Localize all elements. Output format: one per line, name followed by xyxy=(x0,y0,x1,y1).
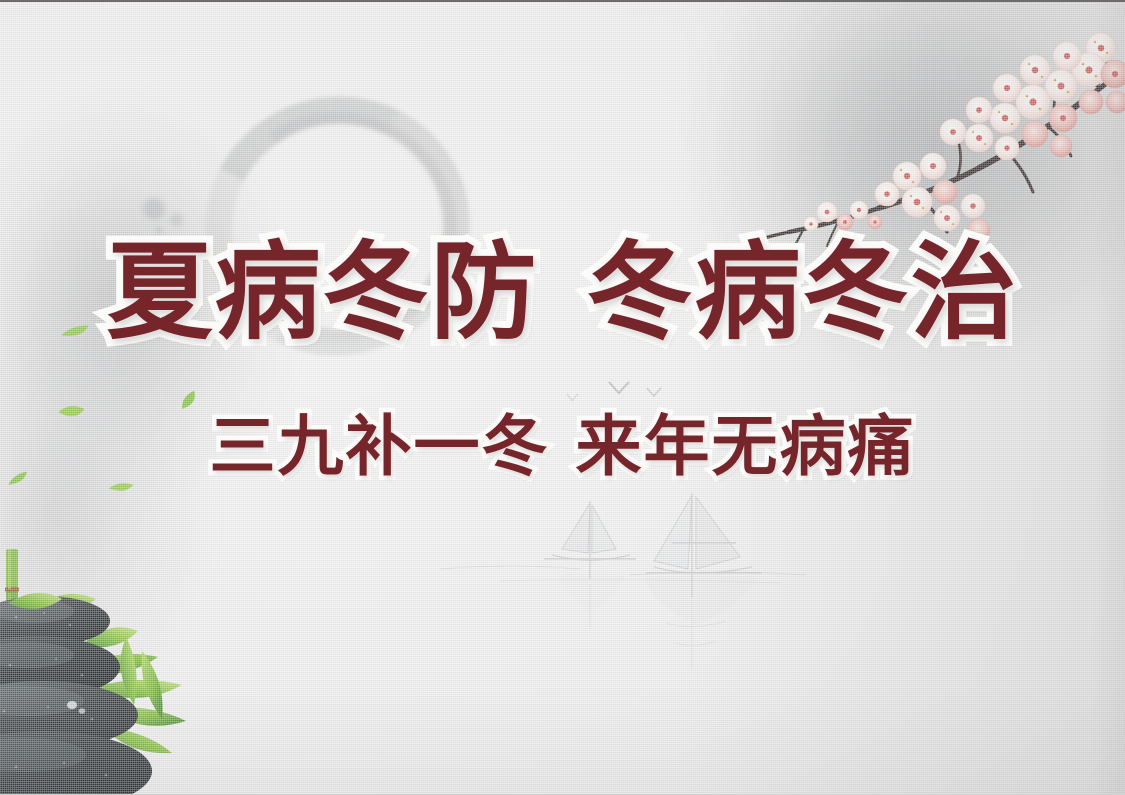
background-paper xyxy=(0,2,1125,794)
poster-canvas: 夏病冬防冬病冬治 三九补一冬来年无病痛 xyxy=(0,0,1125,795)
